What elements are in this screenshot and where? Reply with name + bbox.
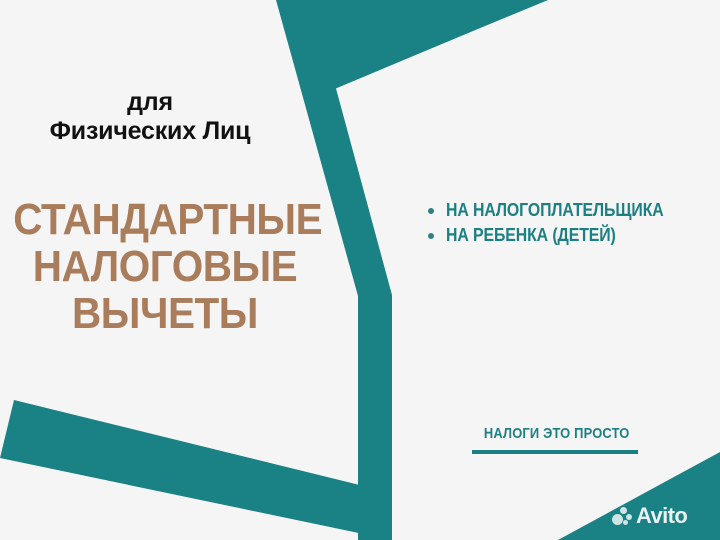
feature-list: НА НАЛОГОПЛАТЕЛЬЩИКА НА РЕБЕНКА (ДЕТЕЙ) [428, 198, 693, 248]
page-title: СТАНДАРТНЫЕ НАЛОГОВЫЕ ВЫЧЕТЫ [13, 196, 317, 337]
list-item-label: НА НАЛОГОПЛАТЕЛЬЩИКА [446, 200, 664, 221]
headline-line-3: ВЫЧЕТЫ [13, 290, 317, 337]
teal-shape-top-quad-body [310, 0, 547, 92]
kicker-line-1: для [0, 88, 300, 117]
teal-shape-bottom-left-band [0, 400, 392, 540]
headline-line-2: НАЛОГОВЫЕ [13, 243, 317, 290]
bullet-dot-icon [428, 208, 434, 214]
tagline-underline [472, 450, 638, 454]
teal-shape-big-top [307, 0, 548, 91]
poster-canvas: для Физических Лиц СТАНДАРТНЫЕ НАЛОГОВЫЕ… [0, 0, 720, 540]
list-item: НА НАЛОГОПЛАТЕЛЬЩИКА [428, 198, 693, 223]
avito-logo-icon [612, 506, 632, 526]
list-item-label: НА РЕБЕНКА (ДЕТЕЙ) [446, 225, 616, 246]
headline-line-1: СТАНДАРТНЫЕ [13, 196, 317, 243]
tagline: НАЛОГИ ЭТО ПРОСТО [472, 425, 638, 442]
bullet-dot-icon [428, 233, 434, 239]
tagline-label: НАЛОГИ ЭТО ПРОСТО [484, 425, 630, 442]
kicker-text: для Физических Лиц [0, 88, 300, 146]
avito-wordmark: Avito [636, 505, 687, 527]
kicker-line-2: Физических Лиц [0, 117, 300, 146]
teal-shape-top-quad [310, 0, 547, 93]
avito-watermark: Avito [612, 505, 687, 527]
list-item: НА РЕБЕНКА (ДЕТЕЙ) [428, 223, 693, 248]
